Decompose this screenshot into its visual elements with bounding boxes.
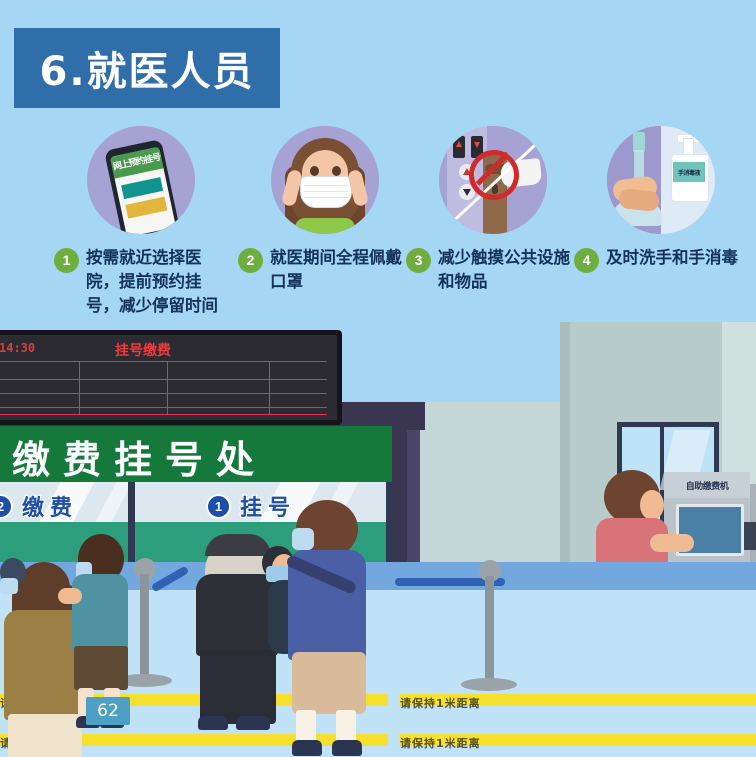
led-table-grid bbox=[0, 361, 327, 415]
page-number: 62 bbox=[86, 697, 130, 725]
main-counter-sign: 缴费挂号处 bbox=[0, 426, 392, 486]
led-queue-board: 14:30 挂号缴费 bbox=[0, 330, 342, 425]
belt-post-base-2 bbox=[461, 678, 517, 691]
led-time: 14:30 bbox=[0, 341, 35, 355]
kiosk-label: 自助缴费机 bbox=[686, 479, 729, 492]
smartphone-online-appointment-icon: 网上预约挂号 bbox=[87, 126, 195, 234]
counter-sign-1: 1 挂号 bbox=[206, 490, 296, 522]
tip-item-3: 3 减少触摸公共设施和物品 bbox=[400, 126, 586, 294]
floor-marking-text-4: 请保持1米距离 bbox=[400, 735, 481, 751]
led-title: 挂号缴费 bbox=[115, 340, 171, 360]
tip-badge-4: 4 bbox=[574, 248, 599, 273]
tip-text-4: 及时洗手和手消毒 bbox=[606, 246, 738, 270]
tip-badge-2: 2 bbox=[238, 248, 263, 273]
floor-marking-text-2: 请保持1米距离 bbox=[400, 695, 481, 711]
main-sign-text: 缴费挂号处 bbox=[0, 429, 267, 484]
tip-badge-3: 3 bbox=[406, 248, 431, 273]
counter-label-2: 缴费 bbox=[22, 490, 78, 522]
belt-post-1 bbox=[140, 574, 149, 682]
belt-post-2 bbox=[485, 576, 494, 686]
tip-text-1: 按需就近选择医院，提前预约挂号，减少停留时间 bbox=[86, 246, 226, 318]
sanitizer-bottle-label: 手消毒液 bbox=[678, 168, 700, 177]
counter-number-2: 2 bbox=[0, 494, 13, 519]
woman-wearing-mask-icon bbox=[271, 126, 379, 234]
no-touch-elevator-doorhandle-icon bbox=[439, 126, 547, 234]
tips-row: 网上预约挂号 1 按需就近选择医院，提前预约挂号，减少停留时间 bbox=[0, 126, 756, 322]
kiosk-header-panel: 自助缴费机 bbox=[664, 472, 750, 498]
tip-item-4: 手消毒液 4 及时洗手和手消毒 bbox=[568, 126, 754, 273]
tip-item-2: 2 就医期间全程佩戴口罩 bbox=[232, 126, 418, 294]
page-title: 6.就医人员 bbox=[39, 39, 254, 97]
tip-badge-1: 1 bbox=[54, 248, 79, 273]
counter-label-1: 挂号 bbox=[240, 490, 296, 522]
handwash-sanitizer-icon: 手消毒液 bbox=[607, 126, 715, 234]
tip-item-1: 网上预约挂号 1 按需就近选择医院，提前预约挂号，减少停留时间 bbox=[48, 126, 234, 318]
hospital-scene-illustration: 自助缴费机 缴费挂号处 14:30 挂号缴费 bbox=[0, 322, 756, 757]
tip-text-3: 减少触摸公共设施和物品 bbox=[438, 246, 578, 294]
top-band bbox=[0, 0, 756, 20]
poster-page: 6.就医人员 网上预约挂号 1 按需就近选择医院，提前预约挂号，减少停留时间 bbox=[0, 0, 756, 757]
counter-sign-2: 2 缴费 bbox=[0, 490, 78, 522]
counter-number-1: 1 bbox=[206, 494, 231, 519]
no-entry-icon bbox=[469, 150, 519, 200]
section-title-box: 6.就医人员 bbox=[14, 28, 280, 108]
tip-text-2: 就医期间全程佩戴口罩 bbox=[270, 246, 410, 294]
